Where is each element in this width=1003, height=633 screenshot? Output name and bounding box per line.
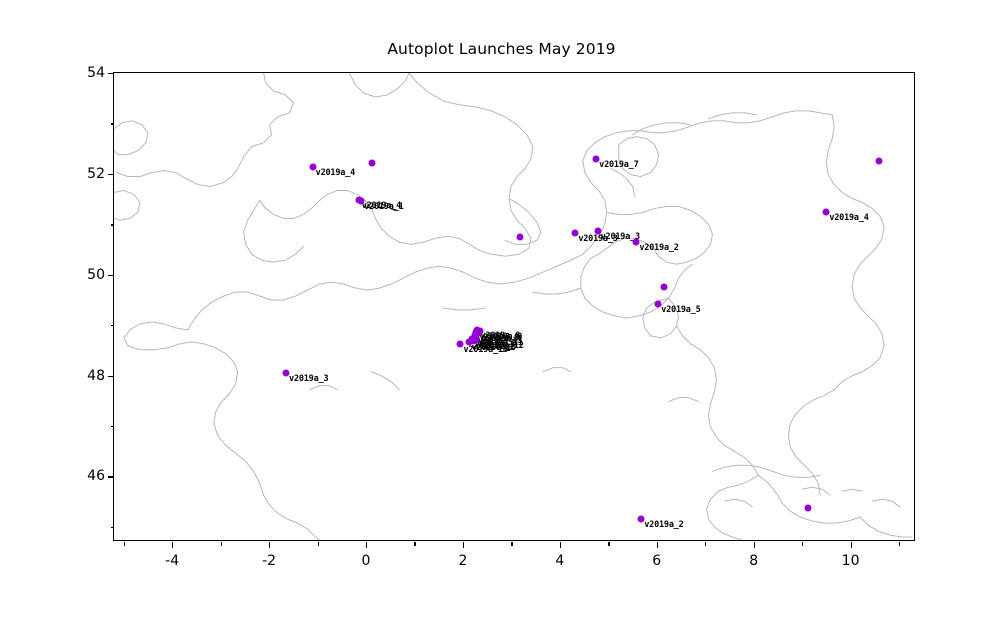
x-tick-label: 0	[362, 553, 371, 569]
y-tick-label: 48	[87, 368, 105, 384]
scatter-point-label: v2019a_5	[661, 305, 700, 315]
axis-tick	[111, 325, 115, 326]
plot-surface: v2019a_4v2019a_4v2019a_1v2019a_3v2019a_7…	[114, 73, 914, 540]
axis-tick	[754, 542, 755, 548]
axis-tick	[318, 542, 319, 546]
map-axes[interactable]: v2019a_4v2019a_4v2019a_1v2019a_3v2019a_7…	[113, 72, 915, 541]
axis-tick	[802, 542, 803, 546]
axis-tick	[221, 542, 222, 546]
scatter-point-label: v2019a_2	[644, 520, 683, 530]
scatter-point-label: v2019a_7	[599, 160, 638, 170]
scatter-point[interactable]	[516, 233, 523, 240]
chart-title: Autoplot Launches May 2019	[0, 40, 1003, 58]
x-tick-label: 6	[652, 553, 661, 569]
axis-tick	[608, 542, 609, 546]
x-tick-label: 2	[458, 553, 467, 569]
y-tick-label: 46	[87, 468, 105, 484]
y-tick-label: 54	[87, 65, 105, 81]
scatter-point[interactable]	[804, 504, 811, 511]
axis-tick	[463, 542, 464, 548]
x-tick-label: 10	[842, 553, 860, 569]
scatter-point[interactable]	[369, 159, 376, 166]
x-tick-label: 8	[749, 553, 758, 569]
scatter-point-label: v2019a_4	[316, 168, 355, 178]
scatter-point[interactable]	[661, 284, 668, 291]
scatter-point-label: v2019a_4	[829, 213, 868, 223]
axis-tick	[657, 542, 658, 548]
axis-tick	[108, 275, 114, 276]
axis-tick	[560, 542, 561, 548]
axis-tick	[851, 542, 852, 548]
axis-tick	[511, 542, 512, 546]
figure-canvas: Autoplot Launches May 2019	[0, 0, 1003, 633]
axis-tick	[269, 542, 270, 548]
scatter-point[interactable]	[875, 158, 882, 165]
axis-tick	[414, 542, 415, 546]
scatter-point-label: v2019a_2	[639, 243, 678, 253]
axis-tick	[108, 376, 114, 377]
axis-tick	[705, 542, 706, 546]
axis-tick	[111, 426, 115, 427]
axis-tick	[108, 174, 114, 175]
y-tick-label: 52	[87, 166, 105, 182]
axis-tick	[899, 542, 900, 546]
axis-tick	[111, 527, 115, 528]
axis-tick	[111, 123, 115, 124]
axis-tick	[111, 224, 115, 225]
axis-tick	[108, 476, 114, 477]
y-tick-label: 50	[87, 267, 105, 283]
scatter-point-label: v2019a_3	[289, 374, 328, 384]
data-points-layer: v2019a_4v2019a_4v2019a_1v2019a_3v2019a_7…	[114, 73, 914, 540]
axis-tick	[366, 542, 367, 548]
scatter-point-label: v2019a_12	[479, 341, 523, 351]
x-tick-label: -2	[262, 553, 276, 569]
axis-tick	[172, 542, 173, 548]
axis-tick	[108, 73, 114, 74]
axis-tick	[124, 542, 125, 546]
x-tick-label: 4	[555, 553, 564, 569]
x-tick-label: -4	[165, 553, 179, 569]
scatter-point-label: v2019a_1	[364, 202, 403, 212]
